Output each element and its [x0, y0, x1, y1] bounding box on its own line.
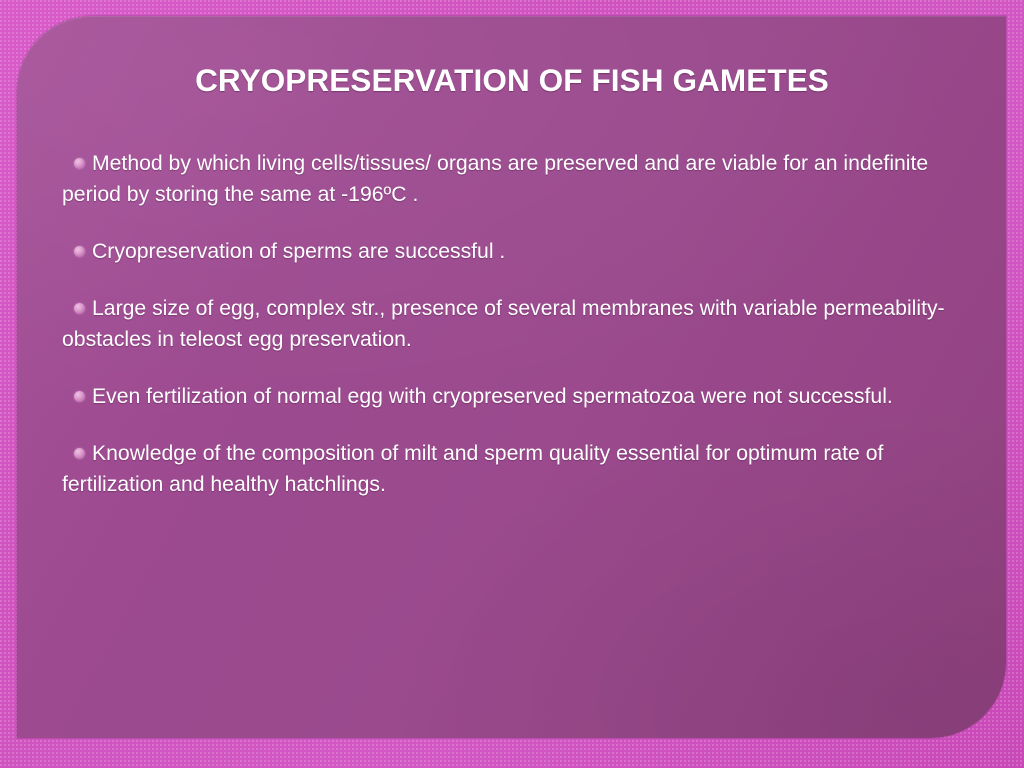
- bullet-item: Knowledge of the composition of milt and…: [62, 438, 950, 500]
- bullet-item: Even fertilization of normal egg with cr…: [62, 381, 950, 412]
- slide-title-container: CRYOPRESERVATION OF FISH GAMETES: [0, 62, 1024, 99]
- bullet-item: Cryopreservation of sperms are successfu…: [62, 236, 950, 267]
- sphere-bullet-icon: [74, 158, 85, 169]
- bullet-item: Large size of egg, complex str., presenc…: [62, 293, 950, 355]
- sphere-bullet-icon: [74, 448, 85, 459]
- page-title: CRYOPRESERVATION OF FISH GAMETES: [195, 62, 829, 99]
- bullet-item-text: Even fertilization of normal egg with cr…: [92, 385, 893, 408]
- bullet-item-text: Large size of egg, complex str., presenc…: [62, 297, 945, 351]
- bullet-item-text: Knowledge of the composition of milt and…: [62, 442, 883, 496]
- bullet-item-text: Method by which living cells/tissues/ or…: [62, 152, 928, 206]
- bullet-item-text: Cryopreservation of sperms are successfu…: [92, 240, 505, 263]
- sphere-bullet-icon: [74, 246, 85, 257]
- presentation-slide: CRYOPRESERVATION OF FISH GAMETES Method …: [0, 0, 1024, 768]
- sphere-bullet-icon: [74, 391, 85, 402]
- sphere-bullet-icon: [74, 303, 85, 314]
- bullet-item: Method by which living cells/tissues/ or…: [62, 148, 950, 210]
- slide-body-content: Method by which living cells/tissues/ or…: [62, 148, 950, 500]
